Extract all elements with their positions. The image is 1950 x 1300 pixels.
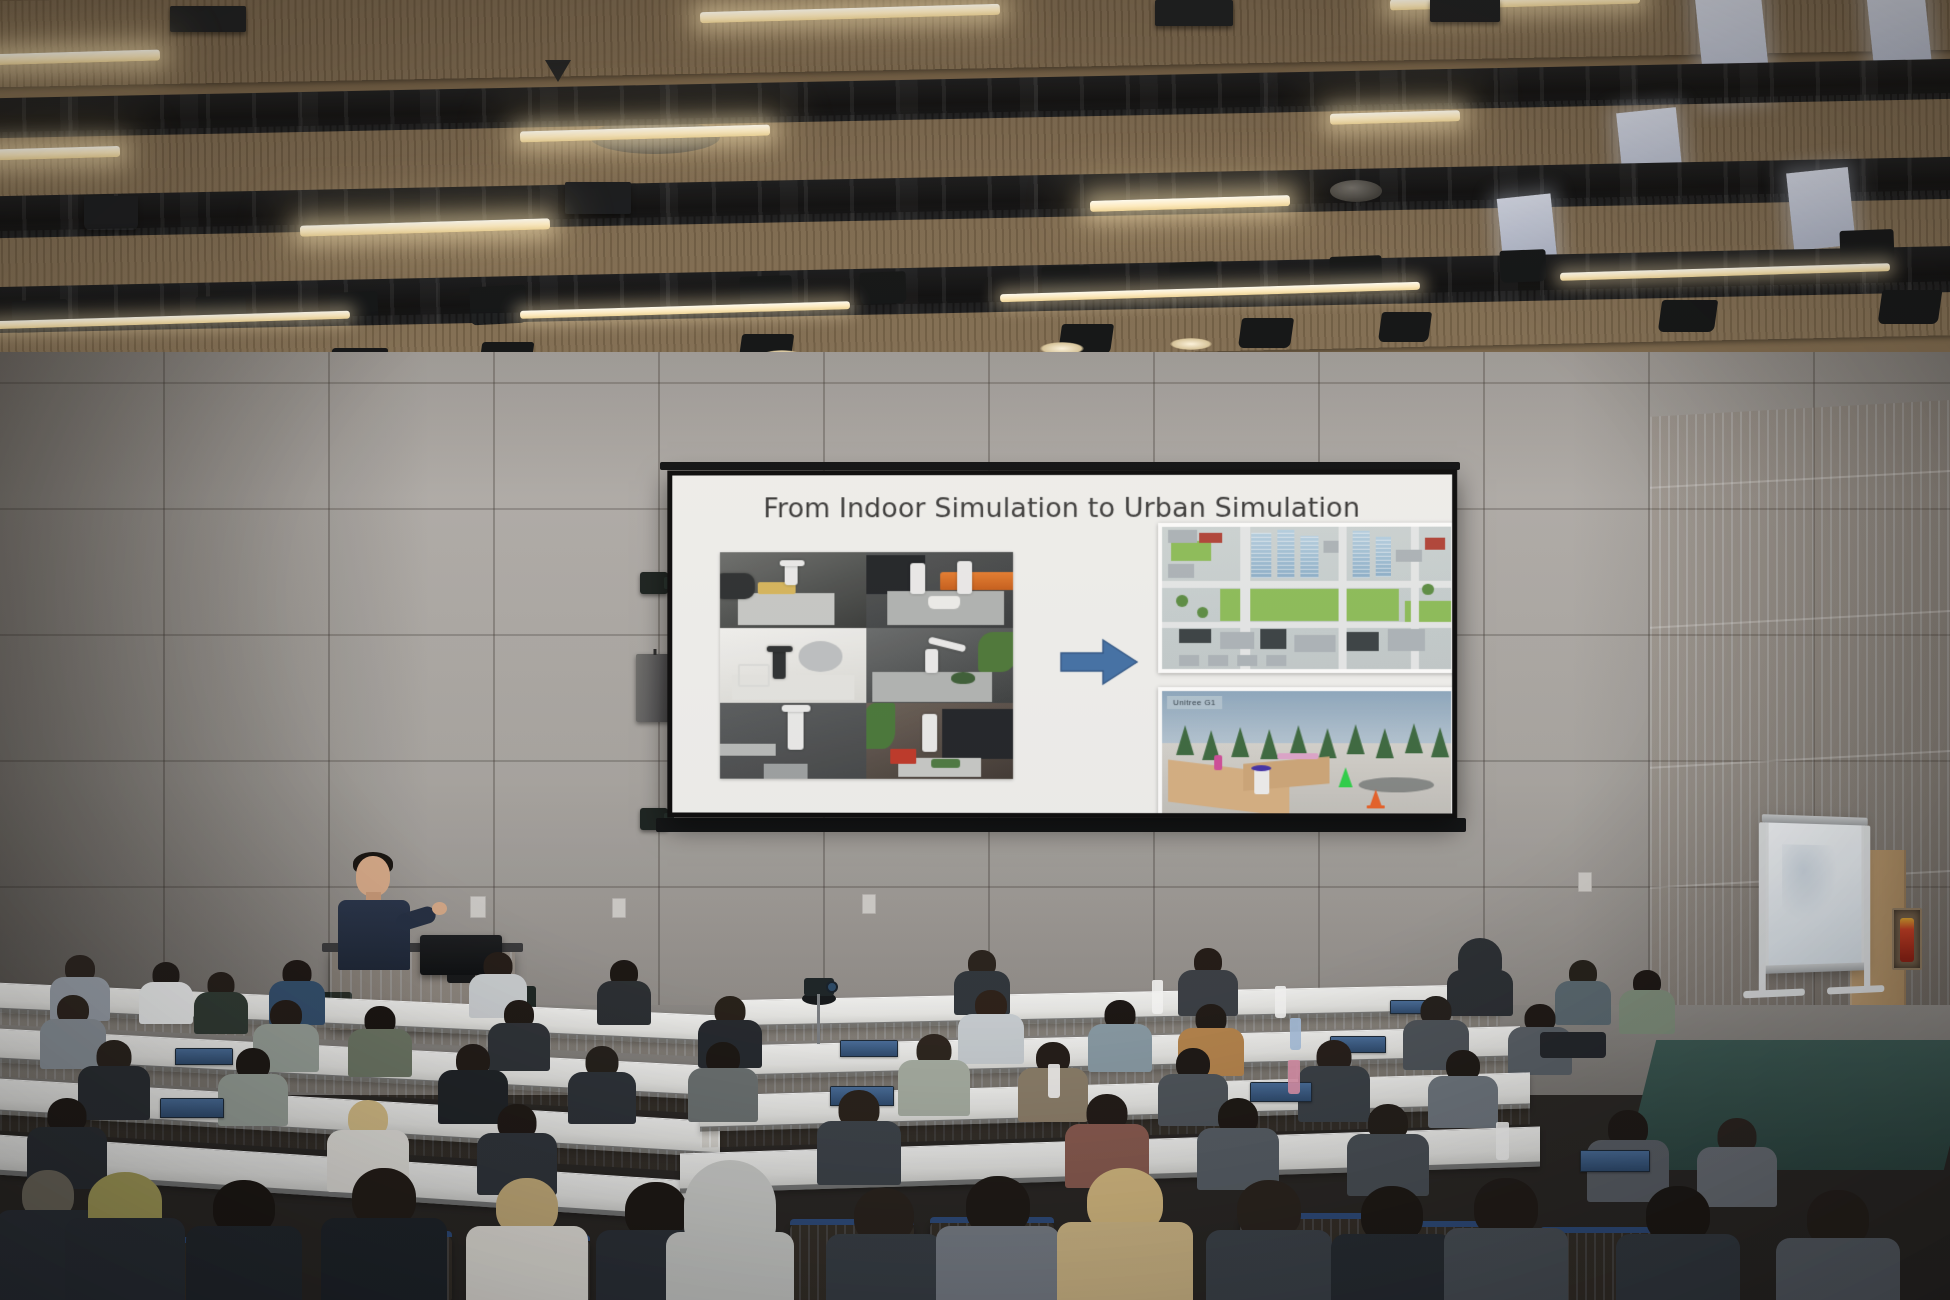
water-bottle [1275, 986, 1286, 1018]
unitree-caption: Unitree G1 [1167, 696, 1222, 709]
audience-person [140, 962, 192, 1016]
unitree-outdoor-sim-image: Unitree G1 [1158, 687, 1452, 813]
backpack [1540, 1032, 1606, 1058]
audience-person [1090, 1000, 1150, 1066]
wall-outlet-plate [862, 894, 876, 914]
carpet-area [1624, 1040, 1950, 1170]
lecture-hall-scene: From Indoor Simulation to Urban Simulati… [0, 0, 1950, 1300]
wall-outlet-plate [470, 896, 486, 918]
audience-person [1620, 970, 1674, 1026]
presenter-blazer [338, 900, 410, 970]
audience-person-front [1620, 1186, 1736, 1300]
track-spotlight [1499, 249, 1546, 283]
track-spotlight [1839, 229, 1894, 263]
presenter-head [356, 856, 390, 896]
ceiling-vent-icon [545, 60, 571, 82]
laptop [160, 1098, 224, 1118]
sim-cell-shelf-bin [866, 703, 1013, 779]
audience-person-front [830, 1188, 938, 1300]
recording-camera [800, 978, 840, 1012]
audience-person-front [1448, 1178, 1564, 1300]
audience-person-front-blonde [1060, 1168, 1190, 1300]
whiteboard-leg [1759, 822, 1766, 994]
ceiling [0, 0, 1950, 400]
presenter [322, 856, 426, 966]
audience-person-front [1780, 1190, 1896, 1300]
sim-cell-bathroom [720, 703, 866, 779]
audience-person-front-cap [70, 1172, 180, 1300]
urban-city-aerial-image [1158, 523, 1452, 673]
ceiling-speaker [1430, 0, 1500, 22]
ceiling-speaker [170, 6, 246, 32]
water-bottle [1152, 980, 1163, 1014]
audience-person [960, 990, 1022, 1058]
audience-person-hooded [1450, 938, 1510, 1004]
sim-cell-kitchen-plant [866, 628, 1013, 704]
whiteboard-leg [1864, 825, 1870, 989]
audience-person-front [470, 1178, 584, 1300]
track-spotlight [1878, 290, 1943, 324]
sim-cell-counter-sphere [720, 628, 866, 704]
ceiling-speaker [565, 182, 631, 214]
water-bottle [1496, 1122, 1509, 1160]
wall-camera [640, 572, 668, 594]
audience-person-front [190, 1180, 298, 1300]
laptop [840, 1040, 898, 1057]
rolling-whiteboard[interactable] [1765, 816, 1865, 969]
audience-person-front [325, 1168, 443, 1300]
ceiling-speaker [84, 196, 138, 230]
right-arrow-icon [1059, 637, 1139, 687]
laptop [1580, 1150, 1650, 1172]
wall-outlet-plate [1578, 872, 1592, 892]
audience-person [690, 1042, 756, 1116]
audience-person [480, 1104, 554, 1188]
track-spotlight [1378, 312, 1432, 342]
presenter-hand [432, 902, 447, 915]
projection-screen[interactable]: From Indoor Simulation to Urban Simulati… [667, 469, 1457, 818]
recessed-light [1170, 338, 1212, 350]
indoor-simulation-grid [720, 552, 1013, 779]
audience-person [1430, 1050, 1496, 1122]
wall-outlet-plate [612, 898, 626, 918]
ceiling-dome-speaker [1330, 180, 1382, 202]
audience-person [220, 1048, 286, 1120]
audience-person [900, 1034, 968, 1110]
track-spotlight [1658, 300, 1718, 332]
audience-person [820, 1090, 898, 1180]
audience-person-front [940, 1176, 1056, 1300]
audience-person [1350, 1104, 1426, 1188]
audience-person [1180, 948, 1236, 1008]
audience-person-front [1210, 1180, 1328, 1300]
sim-cell-shirt-folding [866, 552, 1013, 628]
ceiling-speaker [1155, 0, 1233, 26]
audience-person-front-hooded [670, 1160, 790, 1300]
water-bottle [1288, 1060, 1300, 1094]
track-spotlight [1238, 318, 1294, 348]
fire-extinguisher-cabinet[interactable] [1892, 908, 1922, 970]
audience-person [598, 960, 650, 1016]
audience-person [350, 1006, 410, 1070]
whiteboard-surface[interactable] [1765, 816, 1865, 969]
audience-person [196, 972, 246, 1024]
presentation-slide: From Indoor Simulation to Urban Simulati… [672, 474, 1452, 813]
slide-title: From Indoor Simulation to Urban Simulati… [672, 493, 1452, 525]
track-spotlight [859, 271, 906, 305]
audience-person [1200, 1098, 1276, 1184]
water-bottle [1048, 1064, 1060, 1098]
sim-cell-cake-manipulation [720, 552, 866, 628]
screen-bottom-mount [656, 818, 1466, 832]
audience-person [570, 1046, 634, 1118]
audience-person-front [1335, 1186, 1449, 1300]
